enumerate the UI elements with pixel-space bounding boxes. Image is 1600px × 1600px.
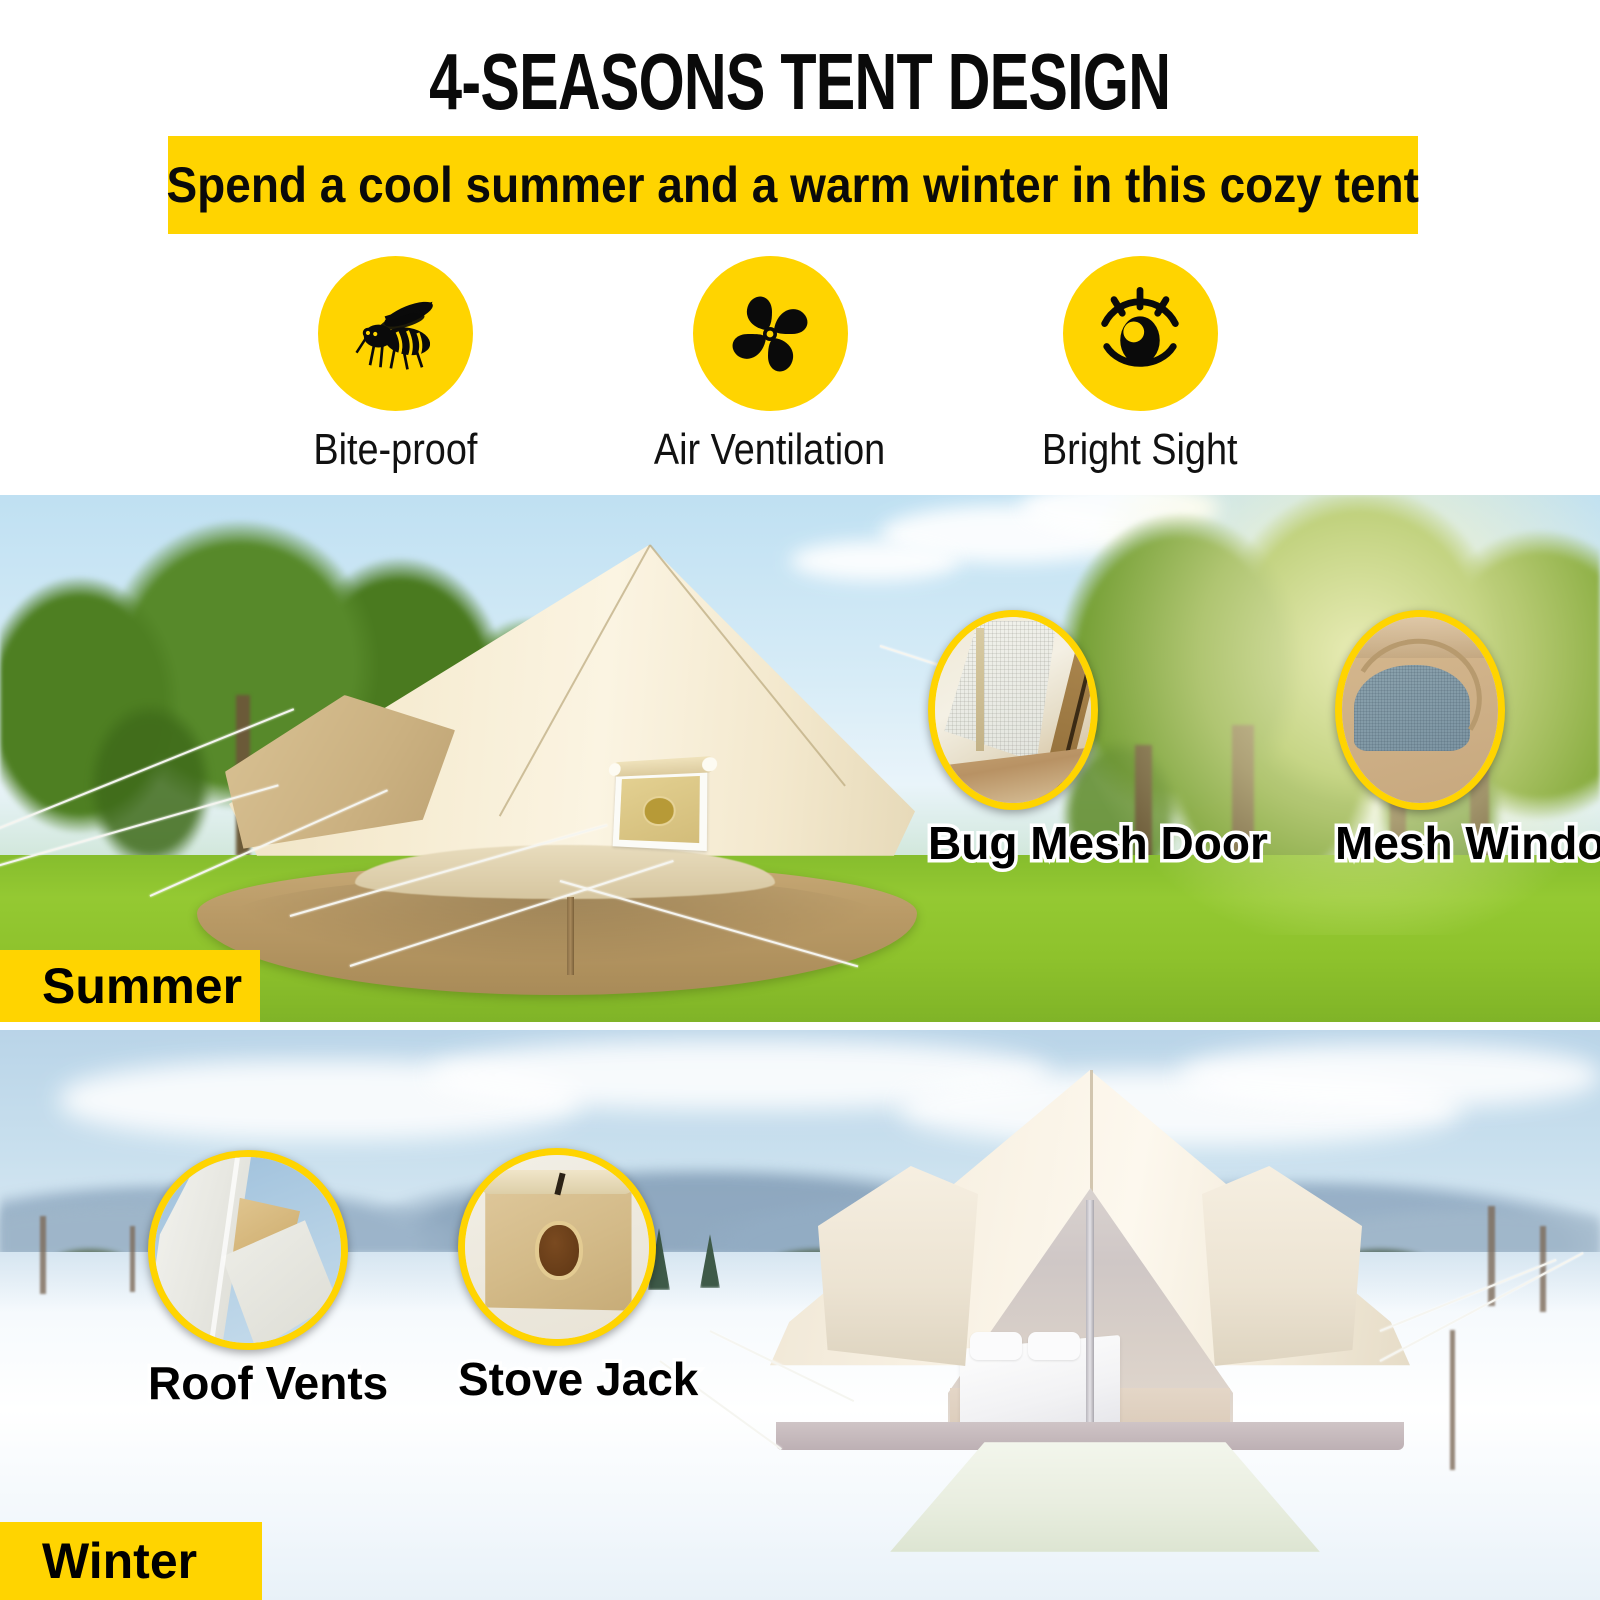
bare-tree (1450, 1330, 1455, 1470)
bare-tree (40, 1216, 46, 1294)
season-label: Winter (0, 1532, 197, 1590)
callout-roof-vents[interactable]: Roof Vents (148, 1150, 388, 1410)
bug-mesh-door-photo (935, 617, 1091, 803)
feature-list: Bite-proof Air Ventilation (0, 256, 1600, 476)
subtitle-banner: Spend a cool summer and a warm winter in… (168, 136, 1418, 234)
subtitle-text: Spend a cool summer and a warm winter in… (167, 156, 1419, 214)
feature-bite-proof: Bite-proof (245, 256, 545, 475)
header-section: 4-SEASONS TENT DESIGN Spend a cool summe… (0, 0, 1600, 495)
door-flap-right (1202, 1166, 1362, 1366)
winter-photo-panel: Roof Vents Stove Jack Winter (0, 1030, 1600, 1600)
callout-bug-mesh-door[interactable]: Bug Mesh Door (928, 610, 1268, 870)
stove-jack-photo (465, 1155, 649, 1339)
fan-icon (720, 284, 820, 384)
door-post (976, 628, 984, 751)
mesh-windows-photo (1342, 617, 1498, 803)
feature-icon-badge (318, 256, 473, 411)
callout-label: Bug Mesh Door (928, 816, 1268, 870)
entrance-rug (890, 1442, 1320, 1552)
winter-scene: Roof Vents Stove Jack Winter (0, 1030, 1600, 1600)
feature-icon-badge (693, 256, 848, 411)
tent-pole (567, 897, 574, 975)
winter-bell-tent (770, 1070, 1410, 1500)
feature-label: Air Ventilation (654, 425, 885, 475)
pillow (970, 1332, 1022, 1360)
eye-icon (1088, 282, 1192, 386)
callout-label: Stove Jack (458, 1352, 698, 1406)
stove-jack-patch (613, 768, 708, 851)
feature-label: Bite-proof (313, 425, 477, 475)
summer-photo-panel: Bug Mesh Door Mesh Windows Summer (0, 495, 1600, 1022)
summer-scene: Bug Mesh Door Mesh Windows Summer (0, 495, 1600, 1022)
callout-inset-image (1335, 610, 1505, 810)
stove-jack-hole (535, 1221, 583, 1280)
feature-label: Bright Sight (1042, 425, 1238, 475)
callout-stove-jack[interactable]: Stove Jack (458, 1148, 698, 1406)
feature-air-ventilation: Air Ventilation (620, 256, 920, 475)
mosquito-icon (343, 282, 447, 386)
tent-center-pole (1086, 1200, 1094, 1440)
callout-inset-image (148, 1150, 348, 1350)
page-title-text: 4-SEASONS TENT DESIGN (429, 36, 1170, 128)
bare-tree (130, 1226, 135, 1292)
panel-divider (0, 1022, 1600, 1030)
callout-mesh-windows[interactable]: Mesh Windows (1335, 610, 1600, 870)
callout-inset-image (458, 1148, 656, 1346)
door-flap-left (818, 1166, 978, 1366)
season-badge-winter: Winter (0, 1522, 262, 1600)
callout-label: Roof Vents (148, 1356, 388, 1410)
mesh-fabric (944, 621, 1056, 762)
roof-vents-photo (155, 1157, 341, 1343)
callout-label: Mesh Windows (1335, 816, 1600, 870)
page-title: 4-SEASONS TENT DESIGN (0, 36, 1600, 128)
bare-tree (1488, 1206, 1495, 1306)
feature-icon-badge (1063, 256, 1218, 411)
bare-tree (1540, 1226, 1546, 1312)
summer-bell-tent (215, 545, 915, 985)
season-badge-summer: Summer (0, 950, 260, 1022)
season-label: Summer (0, 957, 242, 1015)
pillow (1028, 1332, 1080, 1360)
feature-bright-sight: Bright Sight (990, 256, 1290, 475)
callout-inset-image (928, 610, 1098, 810)
